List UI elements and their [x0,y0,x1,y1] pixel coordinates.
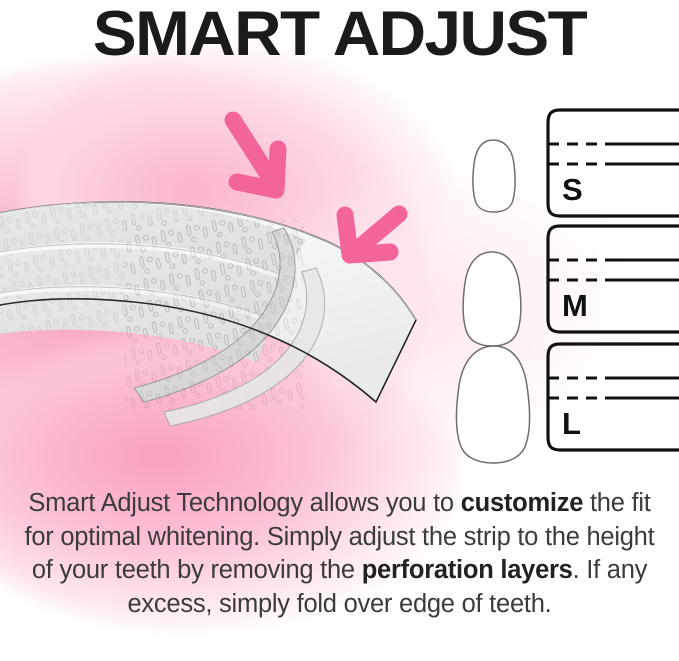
body-seg-2-bold: customize [461,489,583,517]
size-label-m: M [562,288,588,323]
tooth-outline-l [456,346,529,463]
tooth-outline-s [473,140,515,212]
body-paragraph: Smart Adjust Technology allows you to cu… [18,487,661,621]
size-chart: S M L [452,92,679,464]
size-row-l: L [456,344,679,463]
infographic-page: SMART ADJUST [0,0,679,661]
body-seg-4-bold: perforation layers [362,556,573,584]
size-label-l: L [562,406,581,441]
size-row-s: S [473,110,679,216]
size-row-m: M [463,226,679,346]
body-seg-1: Smart Adjust Technology allows you to [28,489,460,517]
tooth-outline-m [463,252,521,346]
arrow-top [233,120,278,190]
size-label-s: S [562,172,583,207]
arrow-bottom [345,214,399,255]
